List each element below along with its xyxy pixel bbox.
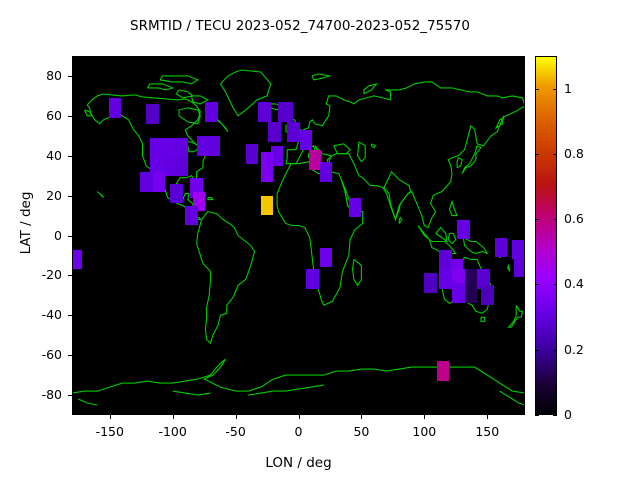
coastline-path (521, 267, 524, 271)
coastline-map (72, 56, 525, 415)
y-axis-tick (68, 275, 72, 276)
y-axis-tick (68, 236, 72, 237)
coastline-path (399, 218, 402, 224)
coastline-path (248, 385, 324, 395)
coastline-path (353, 259, 362, 285)
coastline-path (500, 391, 525, 405)
y-axis-tick-label: 20 (18, 188, 62, 203)
x-axis-tick (236, 415, 237, 419)
x-axis-tick-label: 50 (331, 424, 391, 439)
colorbar-tick-label: 0.8 (564, 146, 604, 161)
x-axis-tick (361, 415, 362, 419)
y-axis-tick-label: -60 (18, 347, 62, 362)
x-axis-tick (424, 415, 425, 419)
coastline-path (197, 212, 255, 344)
coastline-path (463, 238, 487, 254)
coastline-path (286, 82, 525, 228)
x-axis-tick-label: 100 (394, 424, 454, 439)
colorbar-tick (535, 284, 539, 285)
coastline-path (87, 94, 215, 220)
y-axis-label: LAT / deg (18, 163, 34, 283)
x-axis-tick-label: -150 (80, 424, 140, 439)
coastline-path (192, 96, 208, 104)
x-axis-tick-label: 150 (457, 424, 517, 439)
colorbar-tick (553, 219, 557, 220)
y-axis-tick (68, 315, 72, 316)
figure-canvas: SRMTID / TECU 2023-052_74700-2023-052_75… (0, 0, 640, 480)
y-axis-tick-label: 40 (18, 148, 62, 163)
coastline-path (97, 192, 103, 198)
y-axis-tick (68, 395, 72, 396)
coastline-path (183, 142, 199, 152)
coastline-path (221, 70, 271, 116)
coastline-path (334, 144, 350, 154)
colorbar-tick (535, 415, 539, 416)
coastline-path (358, 142, 366, 162)
colorbar-tick-label: 0.2 (564, 342, 604, 357)
map-plot-area (72, 56, 525, 415)
colorbar-tick (553, 89, 557, 90)
colorbar-tick-label: 0.6 (564, 211, 604, 226)
coastline-path (176, 90, 192, 98)
coastline-path (173, 391, 211, 395)
coastline-path (314, 160, 318, 162)
coastline-path (507, 265, 510, 271)
coastline-path (148, 84, 173, 90)
y-axis-tick-label: 0 (18, 228, 62, 243)
colorbar-tick (553, 154, 557, 155)
coastline-path (312, 74, 330, 80)
coastline-path (364, 84, 377, 94)
x-axis-tick (299, 415, 300, 419)
coastline-path (418, 226, 456, 254)
y-axis-tick (68, 156, 72, 157)
colorbar-tick (535, 89, 539, 90)
coastline-path (210, 116, 228, 132)
colorbar-tick (535, 154, 539, 155)
colorbar-tick (553, 350, 557, 351)
coastline-path (481, 317, 485, 321)
y-axis-tick-label: 60 (18, 108, 62, 123)
coastline-path (160, 76, 198, 84)
coastline-path (179, 108, 200, 124)
colorbar-tick (553, 415, 557, 416)
coastline-path (72, 359, 525, 393)
y-axis-tick (68, 355, 72, 356)
coastline-path (270, 104, 281, 110)
coastline-path (442, 257, 491, 313)
colorbar-tick (535, 219, 539, 220)
x-axis-tick-label: 0 (269, 424, 329, 439)
coastline-path (291, 120, 301, 136)
y-axis-tick-label: -80 (18, 387, 62, 402)
coastline-path (509, 305, 523, 327)
y-axis-tick (68, 76, 72, 77)
coastline-path (436, 228, 447, 242)
y-axis-tick-label: 80 (18, 68, 62, 83)
coastline-path (450, 202, 458, 216)
coastline-path (457, 158, 462, 168)
colorbar-tick (535, 350, 539, 351)
x-axis-tick-label: -50 (206, 424, 266, 439)
y-axis-tick-label: -20 (18, 267, 62, 282)
coastline-path (448, 234, 456, 244)
y-axis-tick (68, 196, 72, 197)
y-axis-tick (68, 116, 72, 117)
coastline-path (286, 126, 291, 132)
colorbar-tick-label: 0 (564, 407, 604, 422)
coastline-path (208, 198, 213, 200)
coastline-path (309, 154, 312, 158)
x-axis-tick (110, 415, 111, 419)
colorbar (535, 56, 557, 415)
colorbar-gradient (535, 56, 557, 415)
coastline-path (277, 162, 363, 306)
x-axis-tick (487, 415, 488, 419)
coastline-path (497, 252, 502, 258)
x-axis-tick-label: -100 (143, 424, 203, 439)
x-axis-tick (173, 415, 174, 419)
colorbar-tick (553, 284, 557, 285)
colorbar-tick-label: 1 (564, 81, 604, 96)
page-title: SRMTID / TECU 2023-052_74700-2023-052_75… (0, 18, 600, 34)
coastline-path (341, 180, 352, 210)
x-axis-label: LON / deg (72, 455, 525, 471)
y-axis-tick-label: -40 (18, 307, 62, 322)
colorbar-tick-label: 0.4 (564, 276, 604, 291)
coastline-path (78, 399, 97, 405)
coastline-path (193, 190, 206, 198)
coastline-path (372, 144, 376, 148)
